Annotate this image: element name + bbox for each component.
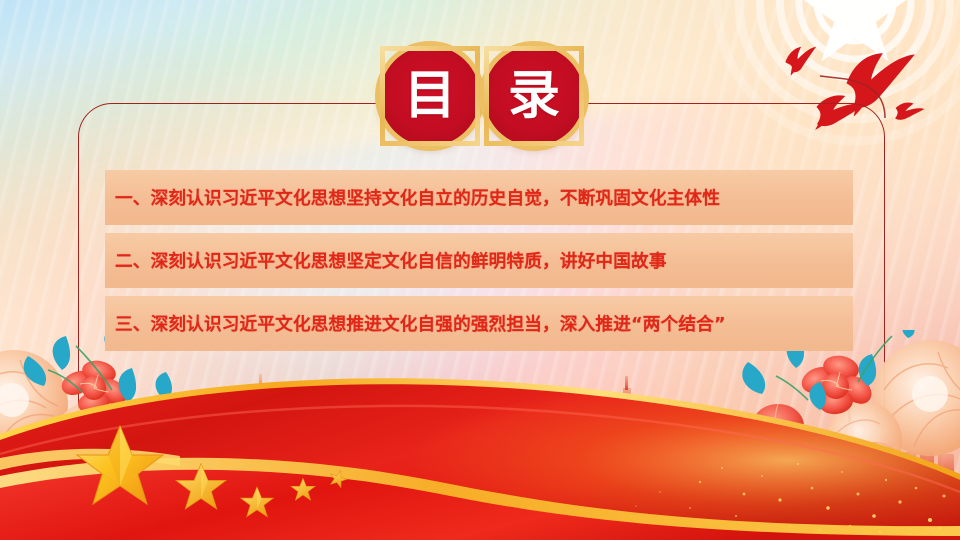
- toc-item-1-label: 一、深刻认识习近平文化思想坚持文化自立的历史自觉，不断巩固文化主体性: [115, 185, 720, 210]
- five-gold-stars-icon: [0, 340, 960, 540]
- toc-list: 一、深刻认识习近平文化思想坚持文化自立的历史自觉，不断巩固文化主体性 二、深刻认…: [105, 170, 853, 359]
- title-circle-lu: 录: [484, 46, 584, 146]
- presentation-slide: 目 录 一、深刻认识习近平文化思想坚持文化自立的历史自觉，不断巩固文化主体性 二…: [0, 0, 960, 540]
- toc-item-3-label: 三、深刻认识习近平文化思想推进文化自强的强烈担当，深入推进“两个结合”: [115, 311, 726, 336]
- toc-item-2[interactable]: 二、深刻认识习近平文化思想坚定文化自信的鲜明特质，讲好中国故事: [105, 233, 853, 288]
- title-circle-mu: 目: [380, 46, 480, 146]
- toc-item-1[interactable]: 一、深刻认识习近平文化思想坚持文化自立的历史自觉，不断巩固文化主体性: [105, 170, 853, 225]
- toc-item-2-label: 二、深刻认识习近平文化思想坚定文化自信的鲜明特质，讲好中国故事: [115, 248, 667, 273]
- star-emblem-icon: [740, 0, 960, 118]
- toc-title: 目 录: [380, 46, 584, 146]
- toc-item-3[interactable]: 三、深刻认识习近平文化思想推进文化自强的强烈担当，深入推进“两个结合”: [105, 296, 853, 351]
